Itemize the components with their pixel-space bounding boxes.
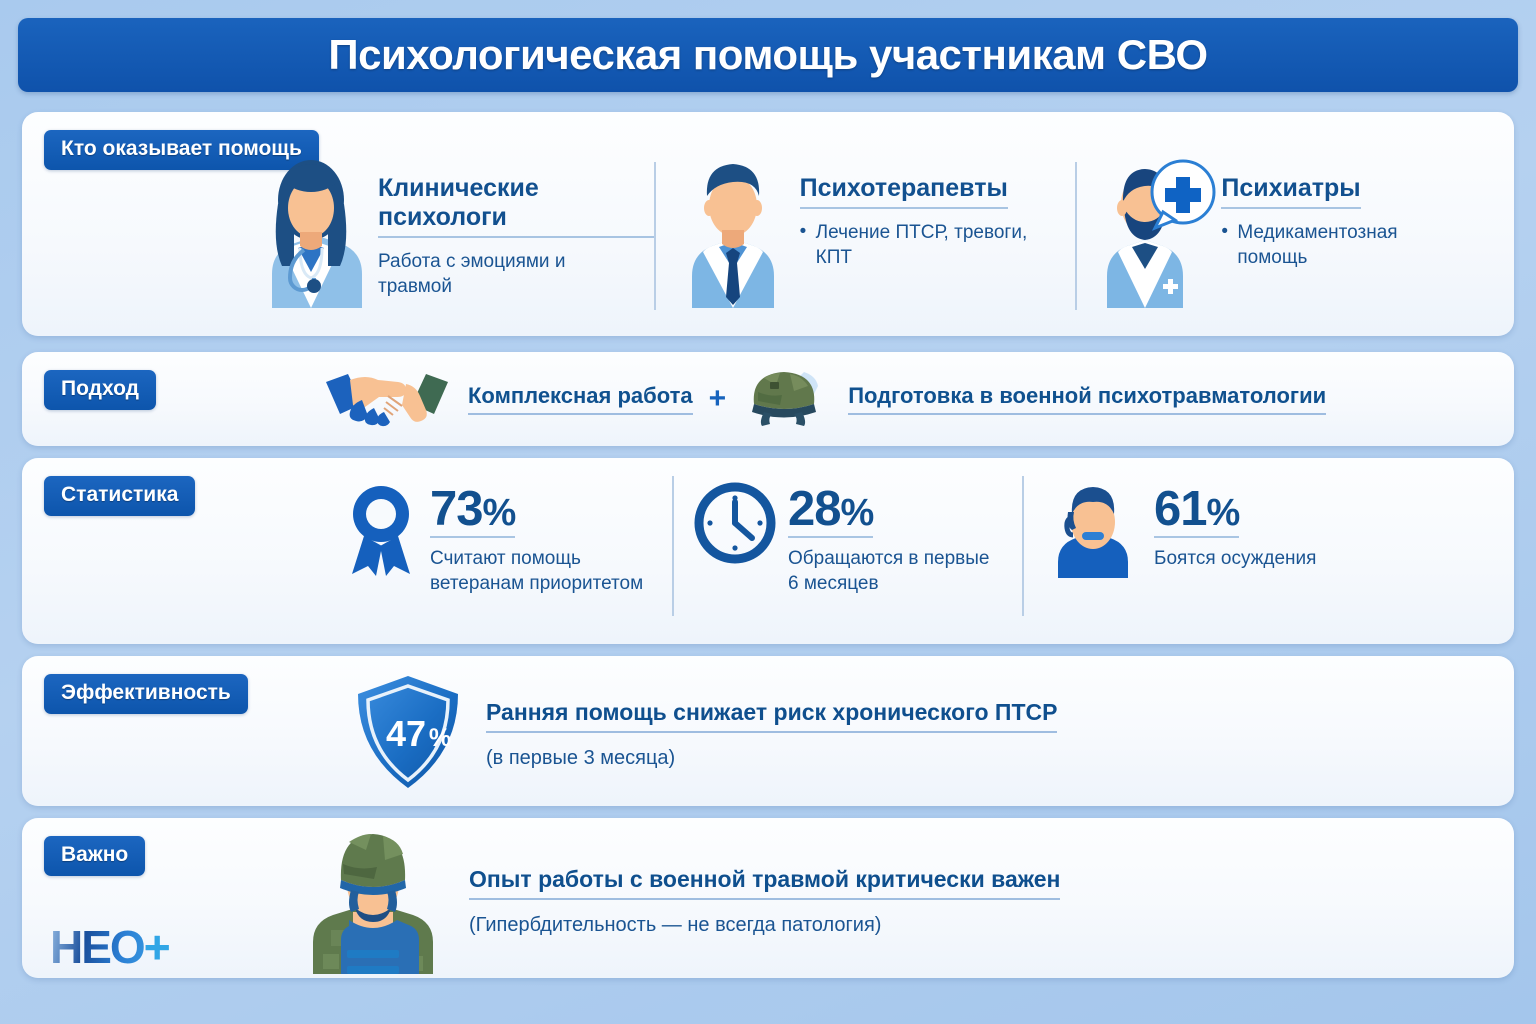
provider-bullet: Лечение ПТСР, тревоги, КПТ [800,220,1050,271]
statistics-row: 73% Считают помощь ветеранам приоритетом… [322,470,1372,638]
card-important: Важно [22,818,1514,978]
provider-title: Психиатры [1221,174,1360,209]
provider-bullet: Медикаментозная помощь [1221,220,1471,271]
stat-body: 73% Считают помощь ветеранам приоритетом [430,482,645,597]
provider-psychiatrists: Психиатры Медикаментозная помощь [1075,156,1497,326]
person-headset-icon [1044,482,1142,583]
svg-text:%: % [429,724,451,752]
approach-left-text: Комплексная работа [468,383,693,415]
stat-value: 28% [788,486,873,538]
shield-icon: 47 % [352,674,464,795]
provider-clinical-psychologists: Клинические психологи Работа с эмоциями … [232,156,654,326]
card-approach: Подход Комплексная работа + [22,352,1514,446]
important-sub-text: (Гипербдительность — не всегда патология… [469,914,1060,937]
clock-icon [694,482,776,569]
stat-label: Боятся осуждения [1154,546,1316,572]
provider-text: Клинические психологи Работа с эмоциями … [374,156,654,300]
section-pill-statistics: Статистика [44,476,195,516]
stat-priority: 73% Считают помощь ветеранам приоритетом [322,470,672,638]
provider-text: Психиатры Медикаментозная помощь [1217,156,1471,271]
stat-body: 28% Обращаются в первые 6 месяцев [788,482,1003,597]
card-providers: Кто оказывает помощь [22,112,1514,336]
award-ribbon-icon [344,482,418,583]
important-row: Опыт работы с военной травмой критически… [297,824,1060,979]
provider-bullet: Работа с эмоциями и травмой [378,249,628,300]
page-title: Психологическая помощь участникам СВО [328,31,1207,79]
providers-row: Клинические психологи Работа с эмоциями … [232,156,1497,326]
efficiency-text-block: Ранняя помощь снижает риск хронического … [486,699,1057,770]
male-psychotherapist-icon [670,156,796,313]
provider-psychotherapists: Психотерапевты Лечение ПТСР, тревоги, КП… [654,156,1076,326]
important-main-text: Опыт работы с военной травмой критически… [469,866,1060,900]
section-pill-approach: Подход [44,370,156,410]
logo-plus-icon: + [144,921,169,973]
stat-body: 61% Боятся осуждения [1154,482,1316,571]
approach-row: Комплексная работа + Подготовка в военно… [322,364,1326,434]
efficiency-main-text: Ранняя помощь снижает риск хронического … [486,699,1057,733]
stat-value: 61% [1154,486,1239,538]
stat-label: Считают помощь ветеранам приоритетом [430,546,645,597]
svg-text:47: 47 [386,713,426,754]
handshake-icon [322,366,452,433]
plus-icon: + [709,382,727,416]
brand-logo: НЕО+ [50,924,169,970]
card-efficiency: Эффективность 47 % Ранняя помощь снижает… [22,656,1514,806]
logo-text: НЕО [50,921,144,973]
stat-first-six-months: 28% Обращаются в первые 6 месяцев [672,470,1022,638]
header-bar: Психологическая помощь участникам СВО [18,18,1518,92]
section-pill-important: Важно [44,836,145,876]
section-pill-efficiency: Эффективность [44,674,248,714]
soldier-icon [297,824,449,979]
stat-label: Обращаются в первые 6 месяцев [788,546,1003,597]
important-text-block: Опыт работы с военной травмой критически… [469,866,1060,937]
military-helmet-icon [742,366,832,433]
efficiency-row: 47 % Ранняя помощь снижает риск хроничес… [352,674,1057,795]
bearded-psychiatrist-icon [1091,156,1217,313]
stat-fear-of-judgment: 61% Боятся осуждения [1022,470,1372,638]
provider-title: Психотерапевты [800,174,1008,209]
card-statistics: Статистика 73% Считают помощь ветеранам … [22,458,1514,644]
stat-value: 73% [430,486,515,538]
provider-title: Клинические психологи [378,174,654,238]
approach-right-text: Подготовка в военной психотравматологии [848,383,1326,415]
efficiency-sub-text: (в первые 3 месяца) [486,747,1057,770]
female-clinical-psychologist-icon [248,156,374,313]
provider-text: Психотерапевты Лечение ПТСР, тревоги, КП… [796,156,1050,271]
